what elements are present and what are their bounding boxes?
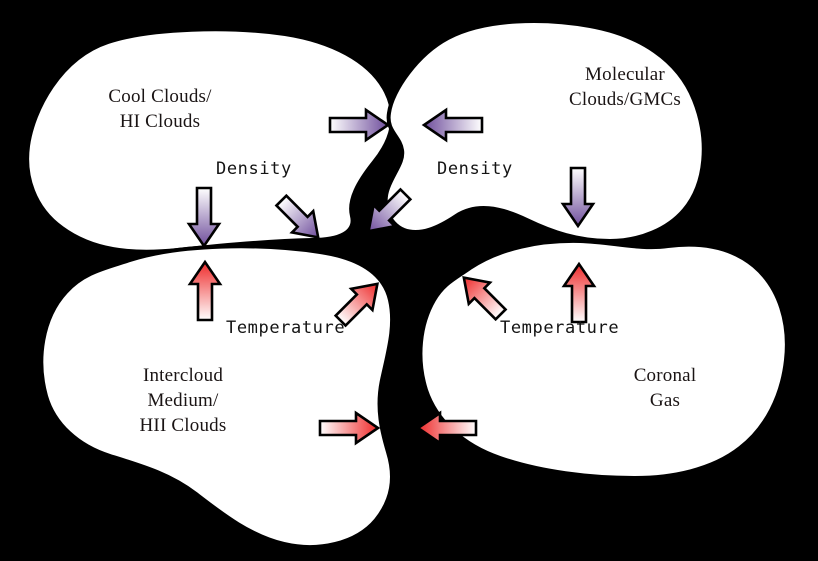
density-arrow-left-from-molecular-clouds xyxy=(424,110,482,140)
arrows-layer xyxy=(0,0,818,561)
density-arrow-down-right-cool-clouds xyxy=(271,190,329,248)
density-arrow-down-molecular-clouds xyxy=(563,168,593,226)
density-arrow-right-from-cool-clouds xyxy=(330,110,388,140)
temperature-arrow-left-from-coronal xyxy=(418,413,476,443)
temperature-arrow-up-coronal xyxy=(564,264,594,322)
density-arrow-down-cool-clouds xyxy=(189,188,219,246)
temperature-arrow-up-left-coronal xyxy=(453,267,511,325)
ism-phases-diagram: Cool Clouds/ HI Clouds Molecular Clouds/… xyxy=(0,0,818,561)
temperature-arrow-up-right-intercloud xyxy=(330,273,388,331)
density-arrow-down-left-molecular-clouds xyxy=(358,184,416,242)
temperature-arrow-right-from-intercloud xyxy=(320,413,378,443)
temperature-arrow-up-intercloud xyxy=(190,262,220,320)
